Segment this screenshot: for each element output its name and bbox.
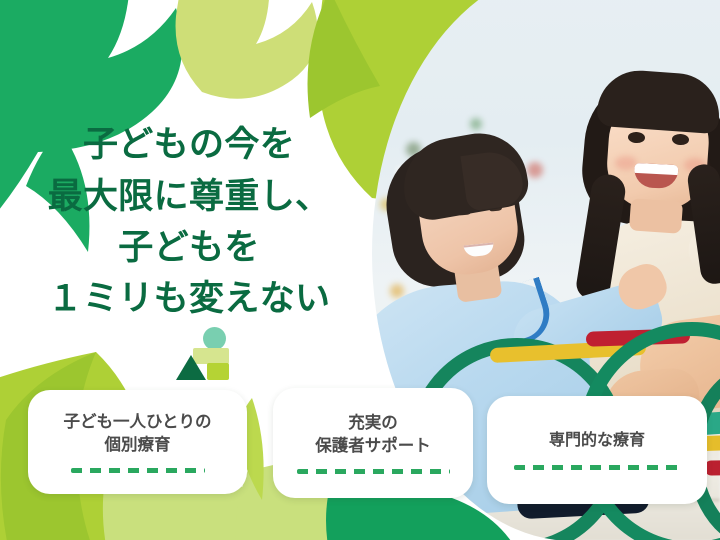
logo-triangle-icon: [176, 355, 206, 380]
logo-circle-icon: [203, 327, 226, 350]
leaf-top-right-lime-dark: [308, 0, 381, 118]
headline-line-4: １ミリも変えない: [0, 273, 378, 324]
headline-line-2: 最大限に尊重し、: [0, 171, 378, 222]
card-line-1: 子ども一人ひとりの: [63, 413, 211, 431]
feature-card-parent-support[interactable]: 充実の 保護者サポート: [273, 388, 473, 498]
girl-neck: [629, 198, 683, 234]
girl-fringe: [596, 68, 720, 134]
photo-bg-toy: [527, 162, 543, 178]
feature-card-individual-therapy[interactable]: 子ども一人ひとりの 個別療育: [28, 390, 247, 494]
card-underline: [297, 469, 450, 474]
leaf-top-center-lime: [176, 0, 318, 99]
card-text: 子ども一人ひとりの 個別療育: [63, 411, 211, 458]
block-logo: [176, 327, 232, 377]
card-line-1: 専門的な療育: [549, 432, 645, 449]
card-text: 専門的な療育: [549, 430, 645, 453]
headline-line-3: 子どもを: [0, 222, 378, 273]
card-line-1: 充実の: [348, 414, 398, 432]
headline: 子どもの今を 最大限に尊重し、 子どもを １ミリも変えない: [0, 119, 378, 323]
photo-bg-toy: [470, 118, 482, 130]
card-underline: [514, 465, 680, 470]
card-line-2: 個別療育: [104, 436, 170, 454]
card-text: 充実の 保護者サポート: [315, 412, 431, 459]
card-underline: [71, 468, 205, 473]
card-line-2: 保護者サポート: [315, 437, 431, 455]
feature-card-specialized-therapy[interactable]: 専門的な療育: [487, 396, 707, 504]
headline-line-1: 子どもの今を: [0, 119, 378, 170]
logo-square-icon: [207, 363, 229, 380]
hero-banner: 子どもの今を 最大限に尊重し、 子どもを １ミリも変えない 子ども一人ひとりの …: [0, 0, 720, 540]
